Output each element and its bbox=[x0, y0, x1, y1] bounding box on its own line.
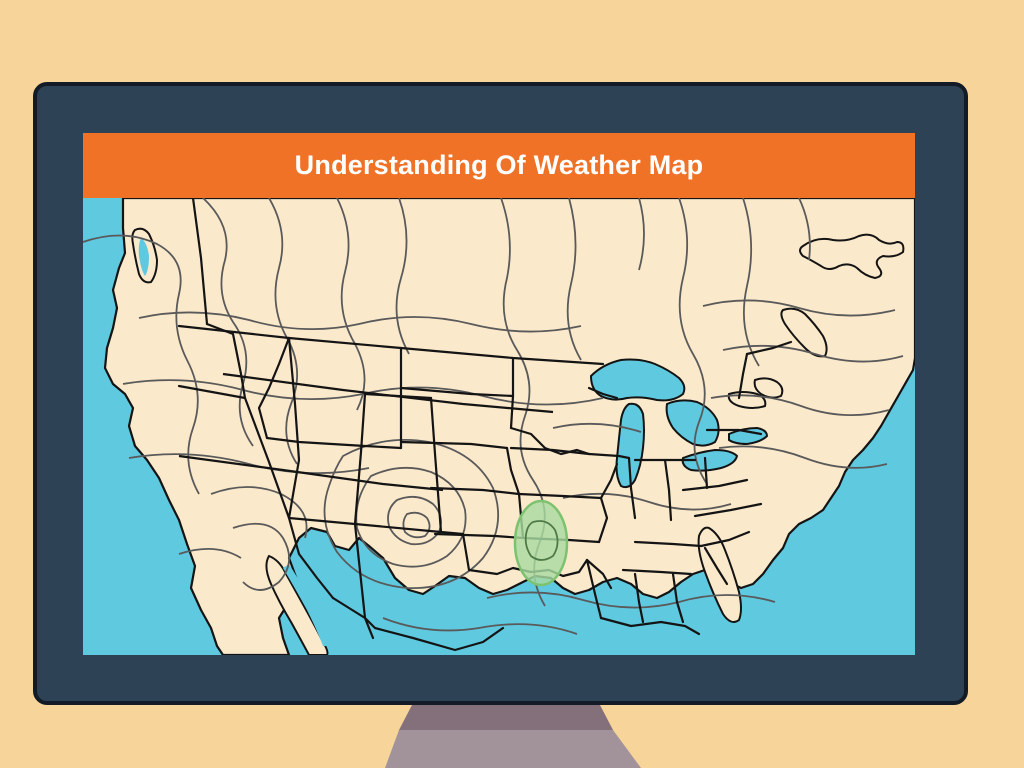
stand-neck-lower bbox=[385, 730, 641, 768]
scene-root: Understanding Of Weather Map bbox=[0, 0, 1024, 768]
low-pressure-highlight bbox=[515, 501, 567, 585]
title-banner: Understanding Of Weather Map bbox=[83, 133, 915, 198]
highlight-ellipse bbox=[515, 501, 567, 585]
weather-map-svg bbox=[83, 198, 915, 655]
monitor-stand bbox=[0, 700, 1024, 768]
weather-map[interactable] bbox=[83, 198, 915, 655]
stand-neck-upper bbox=[399, 705, 613, 730]
monitor-screen[interactable]: Understanding Of Weather Map bbox=[83, 133, 915, 655]
page-title: Understanding Of Weather Map bbox=[295, 150, 704, 181]
